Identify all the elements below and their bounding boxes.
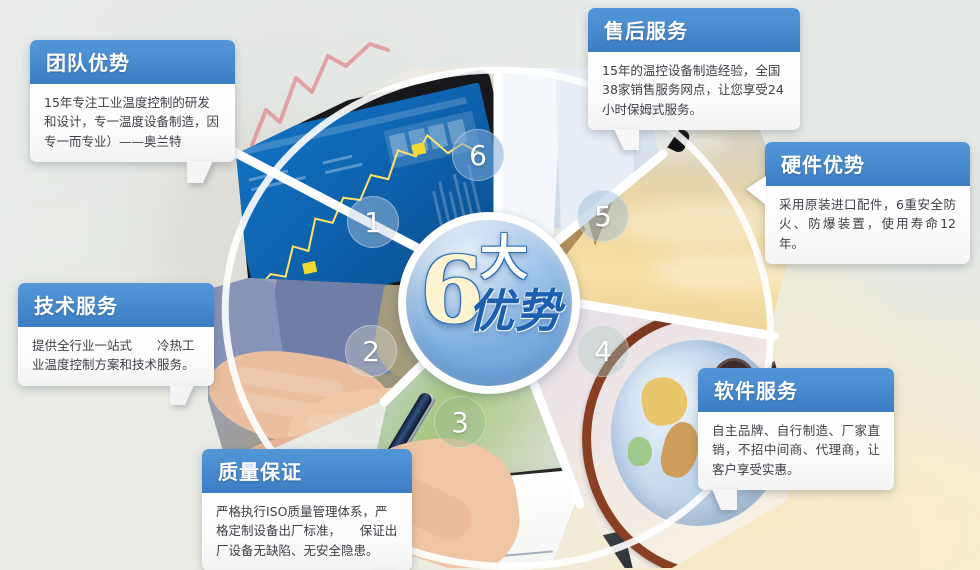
card-title: 质量保证 bbox=[202, 449, 412, 493]
card-tail bbox=[712, 489, 737, 510]
center-unit: 大 bbox=[480, 234, 528, 282]
card-title: 团队优势 bbox=[30, 40, 235, 84]
card-title: 售后服务 bbox=[588, 8, 800, 52]
segment-badge-2[interactable]: 2 bbox=[345, 325, 397, 377]
infographic-canvas: 1 2 3 4 5 6 6 大 优势 团队优势 15年专注工业温度控制的研发和设… bbox=[0, 0, 980, 570]
card-title: 技术服务 bbox=[18, 283, 214, 327]
card-tail bbox=[170, 385, 194, 405]
card-software-service[interactable]: 软件服务 自主品牌、自行制造、厂家直销，不招中间商、代理商，让客户享受实惠。 bbox=[698, 368, 894, 490]
segment-badge-3[interactable]: 3 bbox=[434, 396, 486, 448]
card-tail bbox=[614, 129, 639, 150]
card-text: 15年的温控设备制造经验，全国38家销售服务网点，让您享受24小时保姆式服务。 bbox=[588, 52, 800, 130]
segment-badge-6[interactable]: 6 bbox=[452, 129, 504, 181]
card-hardware-advantage[interactable]: 硬件优势 采用原装进口配件，6重安全防火、防爆装置，使用寿命12年。 bbox=[765, 142, 970, 264]
card-technical-service[interactable]: 技术服务 提供全行业一站式 冷热工业温度控制方案和技术服务。 bbox=[18, 283, 214, 386]
card-title: 硬件优势 bbox=[765, 142, 970, 186]
card-tail bbox=[187, 161, 213, 183]
card-text: 自主品牌、自行制造、厂家直销，不招中间商、代理商，让客户享受实惠。 bbox=[698, 412, 894, 490]
center-keyword: 优势 bbox=[468, 286, 562, 336]
card-text: 严格执行ISO质量管理体系，严格定制设备出厂标准， 保证出厂设备无缺陷、无安全隐… bbox=[202, 493, 412, 570]
segment-badge-4[interactable]: 4 bbox=[577, 325, 629, 377]
card-team-advantage[interactable]: 团队优势 15年专注工业温度控制的研发和设计，专一温度设备制造，因专一而专业）—… bbox=[30, 40, 235, 162]
card-quality-assurance[interactable]: 质量保证 严格执行ISO质量管理体系，严格定制设备出厂标准， 保证出厂设备无缺陷… bbox=[202, 449, 412, 570]
segment-badge-1[interactable]: 1 bbox=[347, 196, 399, 248]
card-text: 采用原装进口配件，6重安全防火、防爆装置，使用寿命12年。 bbox=[765, 186, 970, 264]
center-text-group: 6 大 优势 bbox=[406, 220, 572, 386]
card-title: 软件服务 bbox=[698, 368, 894, 412]
card-after-sales-service[interactable]: 售后服务 15年的温控设备制造经验，全国38家销售服务网点，让您享受24小时保姆… bbox=[588, 8, 800, 130]
card-text: 提供全行业一站式 冷热工业温度控制方案和技术服务。 bbox=[18, 327, 214, 386]
segment-badge-5[interactable]: 5 bbox=[577, 190, 629, 242]
card-tail bbox=[746, 176, 766, 205]
card-text: 15年专注工业温度控制的研发和设计，专一温度设备制造，因专一而专业）——奥兰特 bbox=[30, 84, 235, 162]
